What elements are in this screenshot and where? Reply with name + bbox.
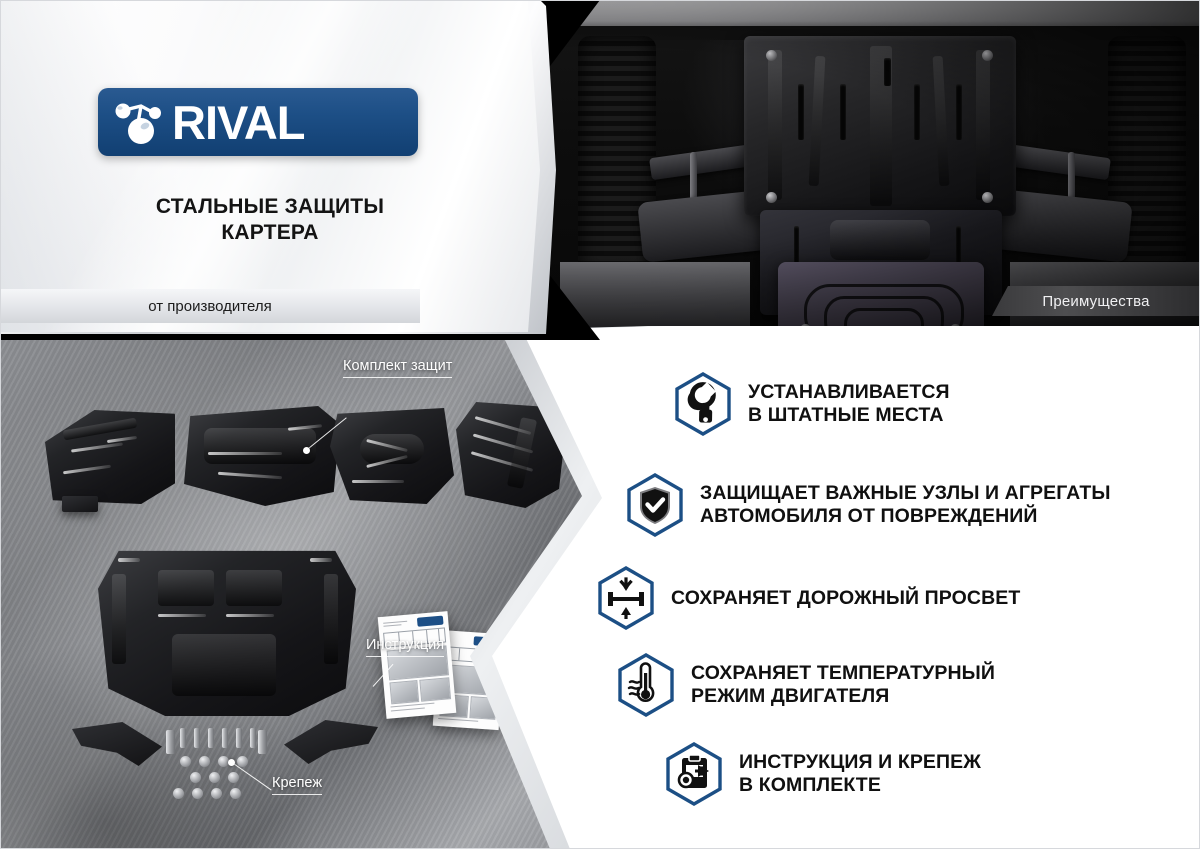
feature-5-line1: ИНСТРУКЦИЯ И КРЕПЕЖ [739,751,981,774]
ground-clearance-icon [597,566,655,630]
callout-protection-kit: Комплект защит [343,358,452,378]
feature-5-text: ИНСТРУКЦИЯ И КРЕПЕЖ В КОМПЛЕКТЕ [739,751,981,797]
callout-instruction: Инструкция [366,637,444,657]
feature-item-2: ЗАЩИЩАЕТ ВАЖНЫЕ УЗЛЫ И АГРЕГАТЫ АВТОМОБИ… [626,473,1111,537]
feature-5-line2: В КОМПЛЕКТЕ [739,774,981,797]
rival-logo: RIVAL [98,88,418,156]
callout-instruction-label: Инструкция [366,637,444,657]
feature-2-text: ЗАЩИЩАЕТ ВАЖНЫЕ УЗЛЫ И АГРЕГАТЫ АВТОМОБИ… [700,482,1111,528]
leader-dot-hardware [228,759,235,766]
thermometer-icon [617,653,675,717]
feature-1-line2: В ШТАТНЫЕ МЕСТА [748,404,950,427]
feature-2-line1: ЗАЩИЩАЕТ ВАЖНЫЕ УЗЛЫ И АГРЕГАТЫ [700,482,1111,505]
advantages-banner: Преимущества [992,286,1200,316]
feature-1-line1: УСТАНАВЛИВАЕТСЯ [748,381,950,404]
page-title: СТАЛЬНЫЕ ЗАЩИТЫ КАРТЕРА [60,194,480,247]
rival-molecule-icon [108,93,174,151]
feature-3-line1: СОХРАНЯЕТ ДОРОЖНЫЙ ПРОСВЕТ [671,587,1020,610]
page-title-line2: КАРТЕРА [60,220,480,246]
advantages-label: Преимущества [1042,293,1149,310]
callout-hardware-label: Крепеж [272,775,322,795]
callout-protection-kit-label: Комплект защит [343,358,452,378]
feature-item-5: ИНСТРУКЦИЯ И КРЕПЕЖ В КОМПЛЕКТЕ [665,742,981,806]
manufacturer-label: от производителя [148,298,271,315]
page-title-line1: СТАЛЬНЫЕ ЗАЩИТЫ [60,194,480,220]
wrench-icon [674,372,732,436]
clipboard-bolt-icon [665,742,723,806]
feature-3-text: СОХРАНЯЕТ ДОРОЖНЫЙ ПРОСВЕТ [671,587,1020,610]
manufacturer-bar: от производителя [0,289,420,323]
feature-1-text: УСТАНАВЛИВАЕТСЯ В ШТАТНЫЕ МЕСТА [748,381,950,427]
feature-item-1: УСТАНАВЛИВАЕТСЯ В ШТАТНЫЕ МЕСТА [674,372,950,436]
leader-dot-kit [303,447,310,454]
feature-4-line2: РЕЖИМ ДВИГАТЕЛЯ [691,685,995,708]
feature-item-3: СОХРАНЯЕТ ДОРОЖНЫЙ ПРОСВЕТ [597,566,1020,630]
shield-check-icon [626,473,684,537]
main-engine-skid-plate [98,544,356,716]
feature-2-line2: АВТОМОБИЛЯ ОТ ПОВРЕЖДЕНИЙ [700,505,1111,528]
feature-4-line1: СОХРАНЯЕТ ТЕМПЕРАТУРНЫЙ [691,662,995,685]
rival-product-poster: Преимущества [0,0,1200,849]
plate-1-tab [62,496,98,512]
callout-hardware: Крепеж [272,775,322,795]
header-panel [0,0,548,332]
instruction-sheet-front [378,611,457,719]
feature-4-text: СОХРАНЯЕТ ТЕМПЕРАТУРНЫЙ РЕЖИМ ДВИГАТЕЛЯ [691,662,995,708]
rival-wordmark: RIVAL [172,99,305,146]
feature-item-4: СОХРАНЯЕТ ТЕМПЕРАТУРНЫЙ РЕЖИМ ДВИГАТЕЛЯ [617,653,995,717]
skid-plate-3 [330,408,454,504]
